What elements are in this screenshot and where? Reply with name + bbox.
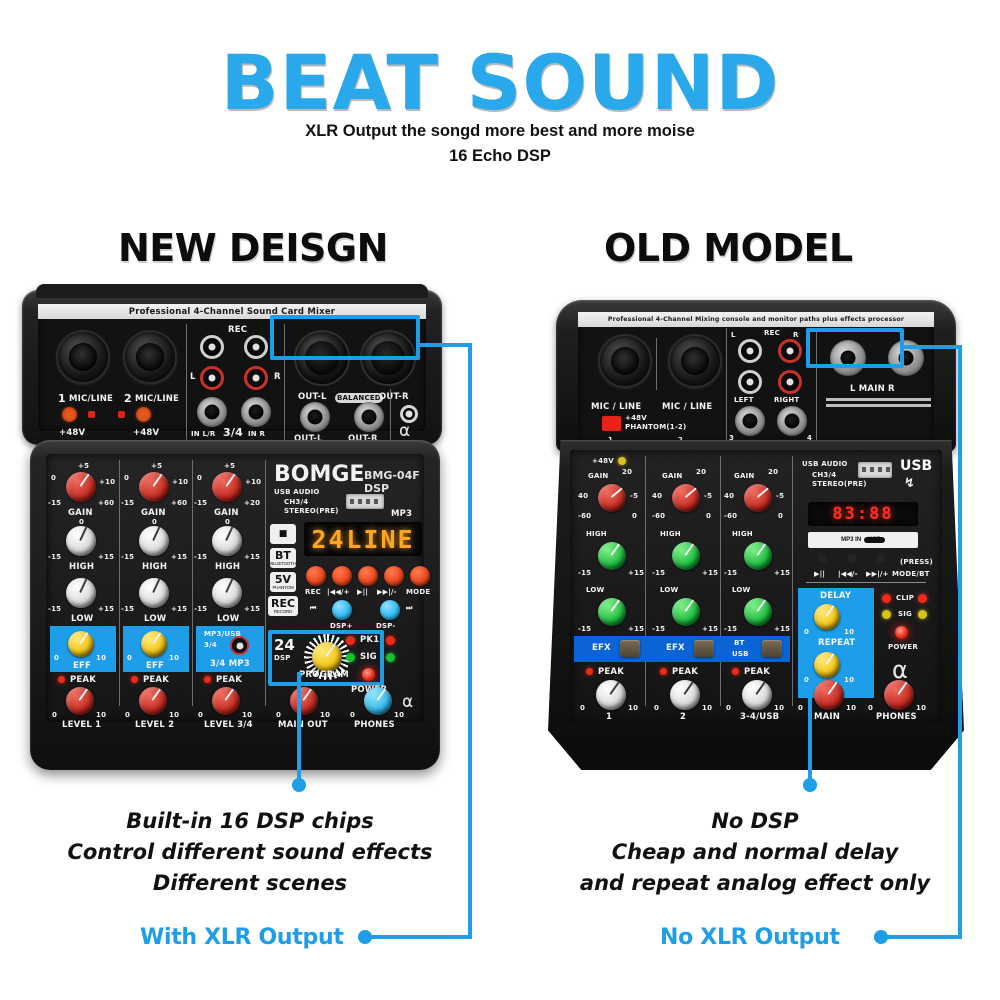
led-display: 24 LINE bbox=[304, 522, 422, 556]
old-led-display: 83:88 bbox=[808, 502, 918, 526]
old-ch34-low-min: -15 bbox=[724, 625, 737, 633]
ch34-level-max: 10 bbox=[242, 711, 252, 719]
old-display-value: 83:88 bbox=[832, 504, 893, 524]
ch2-low-label: LOW bbox=[144, 614, 166, 624]
program-label: PROGRAM bbox=[299, 670, 349, 680]
old-transport-next-label: ▶▶|/+ bbox=[866, 570, 889, 578]
side-button-5v[interactable]: 5V PHANTOM bbox=[270, 572, 296, 592]
headphone-icon: ⍺ bbox=[399, 421, 410, 441]
old-ch1-high-min: -15 bbox=[578, 569, 591, 577]
old-combo-jack-2[interactable] bbox=[668, 334, 722, 388]
ch2-low-max: +15 bbox=[171, 605, 187, 613]
side-button-bt-label: BT bbox=[275, 550, 291, 561]
old-usb-icon: ↯ bbox=[904, 476, 915, 491]
ch2-eff-label: EFF bbox=[146, 661, 164, 671]
old-rec-label: REC bbox=[764, 329, 780, 337]
program-callout-dot bbox=[292, 778, 306, 792]
old-ch34-peak-label: PEAK bbox=[744, 667, 770, 677]
old-ch2-low-label: LOW bbox=[660, 586, 678, 594]
display-program-number: 24 bbox=[311, 525, 345, 554]
old-usb-label: USB bbox=[900, 458, 932, 474]
ch1-eff-min: 0 bbox=[54, 654, 59, 662]
old-mp3-in-label: MP3 IN bbox=[841, 537, 861, 543]
delay-callout-line bbox=[808, 680, 812, 784]
dsp-minus-label: DSP- bbox=[376, 622, 396, 630]
old-sig-led-right bbox=[918, 610, 927, 619]
ch1-eff-label: EFF bbox=[73, 661, 91, 671]
panel-divider-1 bbox=[186, 324, 187, 442]
phantom-label-1: +48V bbox=[59, 428, 85, 438]
ch1-level-min: 0 bbox=[52, 711, 57, 719]
column-heading-new: NEW DEISGN bbox=[118, 226, 388, 270]
panel-divider-3 bbox=[390, 389, 391, 443]
old-ch2-low-knob[interactable] bbox=[672, 598, 700, 626]
old-rec-rca-right[interactable] bbox=[778, 339, 802, 363]
old-ch1-high-label: HIGH bbox=[586, 530, 607, 538]
phones-label: PHONES bbox=[354, 720, 395, 730]
old-ch1-gain-br: 0 bbox=[632, 512, 637, 520]
ch34-level-knob[interactable] bbox=[212, 687, 240, 715]
ch34-peak-led bbox=[204, 676, 211, 683]
ch34-high-max: +15 bbox=[244, 553, 260, 561]
new-design-caption: Built-in 16 DSP chips Control different … bbox=[30, 806, 470, 899]
old-channel-divider-1 bbox=[645, 456, 646, 706]
old-ch1-level-knob[interactable] bbox=[596, 680, 626, 710]
program-number: 24 bbox=[274, 636, 295, 654]
side-button-5v-label: 5V bbox=[275, 574, 291, 585]
ch34-high-label: HIGH bbox=[215, 562, 240, 572]
ch1-eff-max: 10 bbox=[96, 654, 106, 662]
in-lr-label: IN L/R bbox=[191, 430, 216, 438]
old-mixer-face: +48V GAIN 20 40 -5 -60 0 HIGH -15 +15 LO… bbox=[570, 450, 942, 722]
repeat-max: 10 bbox=[844, 676, 854, 684]
ch34-mp3-label: 3/4 MP3 bbox=[210, 659, 250, 669]
input-1-label: MIC/LINE bbox=[69, 394, 113, 404]
old-ch2-gain-br: 0 bbox=[706, 512, 711, 520]
dsp-next-icon: ⏭ bbox=[406, 604, 413, 613]
transport-play-label: ▶|| bbox=[357, 588, 368, 596]
phones-max: 10 bbox=[394, 711, 404, 719]
old-ch1-level-max: 10 bbox=[628, 704, 638, 712]
phantom-led-2 bbox=[118, 411, 125, 418]
old-caption-line-3: and repeat analog effect only bbox=[550, 868, 960, 899]
ch1-gain-max: +60 bbox=[98, 499, 114, 507]
old-phones-knob[interactable] bbox=[884, 680, 914, 710]
old-panel-divider-1 bbox=[726, 328, 727, 446]
xlr-out-r-label: OUT-R bbox=[379, 392, 409, 402]
side-button-rec[interactable]: REC RECORD bbox=[268, 596, 298, 616]
out-r-trs-jack[interactable] bbox=[354, 402, 384, 432]
ch34-gain-tick-zero: 0 bbox=[197, 474, 202, 482]
xlr-callout-line-bottom bbox=[368, 935, 472, 939]
old-ch34-gain-br: 0 bbox=[778, 512, 783, 520]
old-trs-jack-4[interactable] bbox=[777, 406, 807, 436]
old-ch2-high-knob[interactable] bbox=[672, 542, 700, 570]
old-ch34-low-label: LOW bbox=[732, 586, 750, 594]
ch1-low-min: -15 bbox=[48, 605, 61, 613]
old-ch1-low-max: +15 bbox=[628, 625, 644, 633]
ch2-gain-tick-zero: 0 bbox=[124, 474, 129, 482]
side-button-rec-label: REC bbox=[271, 598, 295, 609]
old-ch1-gain-right: -5 bbox=[630, 492, 638, 500]
old-ch2-gain-left: 40 bbox=[652, 492, 662, 500]
ch2-eff-knob[interactable] bbox=[141, 631, 167, 657]
main-out-max: 10 bbox=[320, 711, 330, 719]
ch1-gain-min: -15 bbox=[48, 499, 61, 507]
old-mixer-body: +48V GAIN 20 40 -5 -60 0 HIGH -15 +15 LO… bbox=[548, 440, 964, 770]
in-rca-left[interactable] bbox=[200, 366, 224, 390]
ch2-level-knob[interactable] bbox=[139, 687, 167, 715]
old-ch34-source-button[interactable] bbox=[762, 640, 782, 657]
old-callout-dot bbox=[874, 930, 888, 944]
transport-mode-label: MODE bbox=[406, 588, 430, 596]
old-clip-led-right bbox=[918, 594, 927, 603]
old-sig-led-left bbox=[882, 610, 891, 619]
sig-led-right bbox=[386, 653, 395, 662]
mp3-aux-input-jack[interactable] bbox=[230, 636, 249, 655]
ch2-high-label: HIGH bbox=[142, 562, 167, 572]
xlr-callout-line-horizontal bbox=[420, 343, 472, 347]
old-trs-jack-3[interactable] bbox=[735, 406, 765, 436]
old-ch34-gain-bl: -60 bbox=[724, 512, 737, 520]
old-ch34-gain-knob[interactable] bbox=[744, 484, 772, 512]
old-ch34-level-label: 3-4/USB bbox=[740, 712, 779, 722]
ch1-low-max: +15 bbox=[98, 605, 114, 613]
old-main-max: 10 bbox=[846, 704, 856, 712]
sig-label: SIG bbox=[360, 652, 377, 662]
usb-switch-label: USB bbox=[732, 650, 749, 658]
old-vent-stripe-1 bbox=[826, 398, 931, 401]
program-callout-line bbox=[297, 672, 301, 784]
ch2-gain-tick-plus5: +5 bbox=[151, 462, 162, 470]
infographic-canvas: BEAT SOUND XLR Output the songd more bes… bbox=[0, 0, 1000, 1000]
old-phones-min: 0 bbox=[868, 704, 873, 712]
old-mp3-in-strip: MP3 IN USB bbox=[808, 532, 918, 548]
phantom-led-1 bbox=[88, 411, 95, 418]
xlr-callout-dot bbox=[358, 930, 372, 944]
pk1-led-right bbox=[386, 636, 395, 645]
transport-play-pause-button[interactable] bbox=[358, 566, 378, 586]
phones-headphone-icon: ⍺ bbox=[402, 692, 413, 712]
old-ch1-high-knob[interactable] bbox=[598, 542, 626, 570]
input-2-number: 2 bbox=[124, 392, 132, 405]
old-ch1-gain-bl: -60 bbox=[578, 512, 591, 520]
old-channel-divider-3 bbox=[792, 456, 793, 706]
old-ch2-level-max: 10 bbox=[702, 704, 712, 712]
ch2-high-knob[interactable] bbox=[139, 526, 169, 556]
old-ch2-low-min: -15 bbox=[652, 625, 665, 633]
sig-led-left bbox=[346, 653, 355, 662]
ch34-gain-tick-plus5: +5 bbox=[224, 462, 235, 470]
ch1-gain-tick-zero: 0 bbox=[51, 474, 56, 482]
old-ch2-gain-label: GAIN bbox=[662, 472, 682, 480]
page-subtitle-line1: XLR Output the songd more best and more … bbox=[0, 122, 1000, 141]
power-led bbox=[362, 668, 375, 681]
delay-knob[interactable] bbox=[814, 604, 840, 630]
old-ch34-peak-led bbox=[732, 668, 739, 675]
ch34-high-mid: 0 bbox=[225, 518, 230, 526]
old-in-rca-left[interactable] bbox=[738, 370, 762, 394]
ch1-low-knob[interactable] bbox=[66, 578, 96, 608]
old-transport-prev-label: |◀◀/- bbox=[838, 570, 858, 578]
delay-max: 10 bbox=[844, 628, 854, 636]
main-out-min: 0 bbox=[276, 711, 281, 719]
old-ch1-efx-label: EFX bbox=[592, 643, 611, 653]
pk1-led-left bbox=[346, 636, 355, 645]
old-ch34-gain-top: 20 bbox=[768, 468, 778, 476]
main-out-knob[interactable] bbox=[290, 687, 318, 715]
old-phantom-led bbox=[618, 457, 626, 465]
old-input-1-label: MIC / LINE bbox=[591, 402, 641, 412]
ch2-high-min: -15 bbox=[121, 553, 134, 561]
ch2-high-max: +15 bbox=[171, 553, 187, 561]
ch1-peak-led bbox=[58, 676, 65, 683]
combo-jack-1[interactable] bbox=[56, 330, 110, 384]
new-mixer-body: +5 0 +10 -15 +60 GAIN 0 -15 +15 HIGH -15… bbox=[30, 440, 440, 770]
side-button-bt[interactable]: BT BLUETOOTH bbox=[270, 548, 296, 568]
new-mixer-face: +5 0 +10 -15 +60 GAIN 0 -15 +15 HIGH -15… bbox=[46, 454, 424, 722]
ch2-gain-tick-plus10: +10 bbox=[172, 478, 188, 486]
in-rca-right[interactable] bbox=[244, 366, 268, 390]
ch2-eff-max: 10 bbox=[169, 654, 179, 662]
usb-port[interactable] bbox=[346, 494, 384, 509]
phones-knob[interactable] bbox=[364, 687, 392, 715]
old-main-knob[interactable] bbox=[814, 680, 844, 710]
ch34-gain-max: +20 bbox=[244, 499, 260, 507]
old-caption-line-1: No DSP bbox=[550, 806, 960, 837]
rec-rca-left[interactable] bbox=[200, 335, 224, 359]
old-phones-max: 10 bbox=[916, 704, 926, 712]
transport-prev-button[interactable] bbox=[384, 566, 404, 586]
new-caption-line-3: Different scenes bbox=[30, 868, 470, 899]
old-channel-divider-2 bbox=[720, 456, 721, 706]
old-input-divider bbox=[656, 338, 657, 390]
xlr-out-l-label: OUT-L bbox=[298, 392, 327, 402]
phantom-button-1[interactable] bbox=[62, 407, 77, 422]
old-ch1-high-max: +15 bbox=[628, 569, 644, 577]
old-ch34-level-max: 10 bbox=[774, 704, 784, 712]
old-ch2-efx-label: EFX bbox=[666, 643, 685, 653]
combo-jack-2[interactable] bbox=[123, 330, 177, 384]
old-ch2-level-min: 0 bbox=[654, 704, 659, 712]
ch34-gain-min: -15 bbox=[194, 499, 207, 507]
rca-left-label: L bbox=[190, 372, 196, 382]
ch2-high-mid: 0 bbox=[152, 518, 157, 526]
ch34-low-knob[interactable] bbox=[212, 578, 242, 608]
in-trs-right[interactable] bbox=[241, 397, 271, 427]
phones-min: 0 bbox=[350, 711, 355, 719]
ch34-high-knob[interactable] bbox=[212, 526, 242, 556]
ch1-gain-knob[interactable] bbox=[66, 472, 96, 502]
ch34-gain-tick-plus10: +10 bbox=[245, 478, 261, 486]
old-usb-audio-label: USB AUDIO bbox=[802, 460, 848, 468]
ch2-peak-label: PEAK bbox=[143, 675, 169, 685]
main-out-label: MAIN OUT bbox=[278, 720, 328, 730]
ch1-high-min: -15 bbox=[48, 553, 61, 561]
input-1-number: 1 bbox=[58, 392, 66, 405]
old-phones-label: PHONES bbox=[876, 712, 917, 722]
program-knob[interactable] bbox=[312, 642, 342, 672]
ch34-low-label: LOW bbox=[217, 614, 239, 624]
balanced-badge: BALANCED bbox=[335, 393, 383, 403]
phantom-label-2: +48V bbox=[133, 428, 159, 438]
ch1-peak-label: PEAK bbox=[70, 675, 96, 685]
old-ch34-gain-label: GAIN bbox=[734, 472, 754, 480]
side-button-bt-sub: BLUETOOTH bbox=[270, 561, 296, 566]
new-caption-line-1: Built-in 16 DSP chips bbox=[30, 806, 470, 837]
old-phantom-led-label: +48V bbox=[592, 457, 614, 465]
ch2-gain-knob[interactable] bbox=[139, 472, 169, 502]
display-mode-text: LINE bbox=[346, 525, 414, 554]
ch1-gain-label: GAIN bbox=[68, 508, 93, 518]
repeat-knob[interactable] bbox=[814, 652, 840, 678]
ch1-low-label: LOW bbox=[71, 614, 93, 624]
ch1-eff-knob[interactable] bbox=[68, 631, 94, 657]
delay-callout-dot bbox=[803, 778, 817, 792]
channel-divider-2 bbox=[192, 460, 193, 706]
transport-next-button[interactable] bbox=[332, 566, 352, 586]
old-sig-label: SIG bbox=[898, 610, 912, 618]
old-ch1-efx-button[interactable] bbox=[620, 640, 640, 657]
old-ch1-level-min: 0 bbox=[580, 704, 585, 712]
old-usb-audio-stereo: STEREO(PRE) bbox=[812, 480, 867, 488]
old-ch34-high-max: +15 bbox=[774, 569, 790, 577]
brand-name: BOMGE bbox=[274, 462, 364, 487]
ch1-gain-tick-plus10: +10 bbox=[99, 478, 115, 486]
delay-label: DELAY bbox=[820, 591, 851, 601]
ch1-high-label: HIGH bbox=[69, 562, 94, 572]
dsp-plus-button[interactable] bbox=[332, 600, 352, 620]
old-rca-right-label: R bbox=[793, 331, 799, 339]
page-subtitle-line2: 16 Echo DSP bbox=[0, 147, 1000, 166]
ch2-level-min: 0 bbox=[125, 711, 130, 719]
old-ch2-high-min: -15 bbox=[652, 569, 665, 577]
old-phantom-label: +48V bbox=[625, 414, 647, 422]
side-button-usb[interactable]: ■ bbox=[270, 524, 296, 544]
old-combo-jack-1[interactable] bbox=[598, 334, 652, 388]
ch34-level-min: 0 bbox=[198, 711, 203, 719]
side-button-rec-sub: RECORD bbox=[274, 609, 292, 614]
out-l-trs-jack[interactable] bbox=[300, 402, 330, 432]
old-input-2-label: MIC / LINE bbox=[662, 402, 712, 412]
dsp-prev-icon: ⏮ bbox=[310, 604, 317, 613]
old-ch1-gain-top: 20 bbox=[622, 468, 632, 476]
transport-rec-label: REC bbox=[305, 588, 321, 596]
old-ch34-high-label: HIGH bbox=[732, 530, 753, 538]
ch1-level-max: 10 bbox=[96, 711, 106, 719]
old-ch1-gain-knob[interactable] bbox=[598, 484, 626, 512]
old-ch1-gain-left: 40 bbox=[578, 492, 588, 500]
old-callout-line-bottom bbox=[884, 935, 962, 939]
side-button-5v-sub: PHANTOM bbox=[272, 585, 293, 590]
ch34-level-label: LEVEL 3/4 bbox=[204, 720, 253, 730]
old-in-rca-right[interactable] bbox=[778, 370, 802, 394]
old-transport-btn-1[interactable] bbox=[818, 554, 827, 563]
new-banner-label: With XLR Output bbox=[140, 925, 344, 950]
ch1-high-knob[interactable] bbox=[66, 526, 96, 556]
ch2-level-max: 10 bbox=[169, 711, 179, 719]
old-ch1-low-knob[interactable] bbox=[598, 598, 626, 626]
ch34-low-max: +15 bbox=[244, 605, 260, 613]
old-ch2-high-max: +15 bbox=[702, 569, 718, 577]
program-dsp-sub: DSP bbox=[274, 654, 291, 662]
old-clip-label: CLIP bbox=[896, 594, 914, 602]
usb-audio-label: USB AUDIO bbox=[274, 488, 320, 496]
dsp-minus-button[interactable] bbox=[380, 600, 400, 620]
old-rear-silkscreen-strip: Professional 4-Channel Mixing console an… bbox=[578, 312, 934, 327]
old-transport-btn-3[interactable] bbox=[876, 554, 885, 563]
transport-mode-button[interactable] bbox=[410, 566, 430, 586]
old-right-label: RIGHT bbox=[774, 396, 799, 404]
old-ch34-high-knob[interactable] bbox=[744, 542, 772, 570]
ch1-level-knob[interactable] bbox=[66, 687, 94, 715]
old-caption-line-2: Cheap and normal delay bbox=[550, 837, 960, 868]
ch34-gain-knob[interactable] bbox=[212, 472, 242, 502]
transport-next-label: |◀◀/+ bbox=[327, 588, 350, 596]
old-rec-rca-left[interactable] bbox=[738, 339, 762, 363]
column-heading-old: OLD MODEL bbox=[604, 226, 853, 270]
old-ch34-level-min: 0 bbox=[726, 704, 731, 712]
ch1-level-label: LEVEL 1 bbox=[62, 720, 101, 730]
old-ch2-efx-button[interactable] bbox=[694, 640, 714, 657]
old-main-label: L MAIN R bbox=[850, 384, 895, 394]
ch2-low-knob[interactable] bbox=[139, 578, 169, 608]
transport-rec-button[interactable] bbox=[306, 566, 326, 586]
page-title: BEAT SOUND bbox=[0, 38, 1000, 127]
old-ch1-peak-led bbox=[586, 668, 593, 675]
old-phantom-button[interactable] bbox=[602, 416, 621, 431]
repeat-label: REPEAT bbox=[818, 638, 855, 648]
ch1-high-max: +15 bbox=[98, 553, 114, 561]
old-callout-line-horizontal bbox=[902, 345, 962, 349]
phantom-button-2[interactable] bbox=[136, 407, 151, 422]
old-ch34-low-knob[interactable] bbox=[744, 598, 772, 626]
old-ch34-low-max: +15 bbox=[774, 625, 790, 633]
old-transport-btn-2[interactable] bbox=[848, 554, 857, 563]
ch2-level-label: LEVEL 2 bbox=[135, 720, 174, 730]
old-ch34-level-knob[interactable] bbox=[742, 680, 772, 710]
old-usb-port[interactable] bbox=[858, 462, 892, 478]
ch2-peak-led bbox=[131, 676, 138, 683]
old-ch1-level-label: 1 bbox=[606, 712, 612, 722]
old-ch34-gain-left: 40 bbox=[724, 492, 734, 500]
usb-audio-stereo-label: STEREO(PRE) bbox=[284, 507, 339, 515]
old-ch34-high-min: -15 bbox=[724, 569, 737, 577]
in-34-label: 3/4 bbox=[223, 426, 243, 439]
old-ch2-gain-knob[interactable] bbox=[672, 484, 700, 512]
rec-rca-right[interactable] bbox=[244, 335, 268, 359]
ch2-low-min: -15 bbox=[121, 605, 134, 613]
channel-divider-1 bbox=[119, 460, 120, 706]
old-ch1-peak-label: PEAK bbox=[598, 667, 624, 677]
in-trs-left[interactable] bbox=[197, 397, 227, 427]
ch2-eff-min: 0 bbox=[127, 654, 132, 662]
old-ch2-low-max: +15 bbox=[702, 625, 718, 633]
in-r-label: IN R bbox=[248, 430, 265, 438]
rca-right-label: R bbox=[274, 372, 281, 382]
ch2-gain-label: GAIN bbox=[141, 508, 166, 518]
old-ch1-gain-label: GAIN bbox=[588, 472, 608, 480]
ch34-low-min: -15 bbox=[194, 605, 207, 613]
new-caption-line-2: Control different sound effects bbox=[30, 837, 470, 868]
new-mixer-rear-panel: Professional 4-Channel Sound Card Mixer … bbox=[22, 290, 442, 445]
ch34-source-label: 3/4 bbox=[204, 641, 217, 649]
old-left-label: LEFT bbox=[734, 396, 754, 404]
old-vent-stripe-2 bbox=[826, 404, 931, 407]
old-ch2-high-label: HIGH bbox=[660, 530, 681, 538]
old-ch2-level-knob[interactable] bbox=[670, 680, 700, 710]
old-ch1-low-label: LOW bbox=[586, 586, 604, 594]
